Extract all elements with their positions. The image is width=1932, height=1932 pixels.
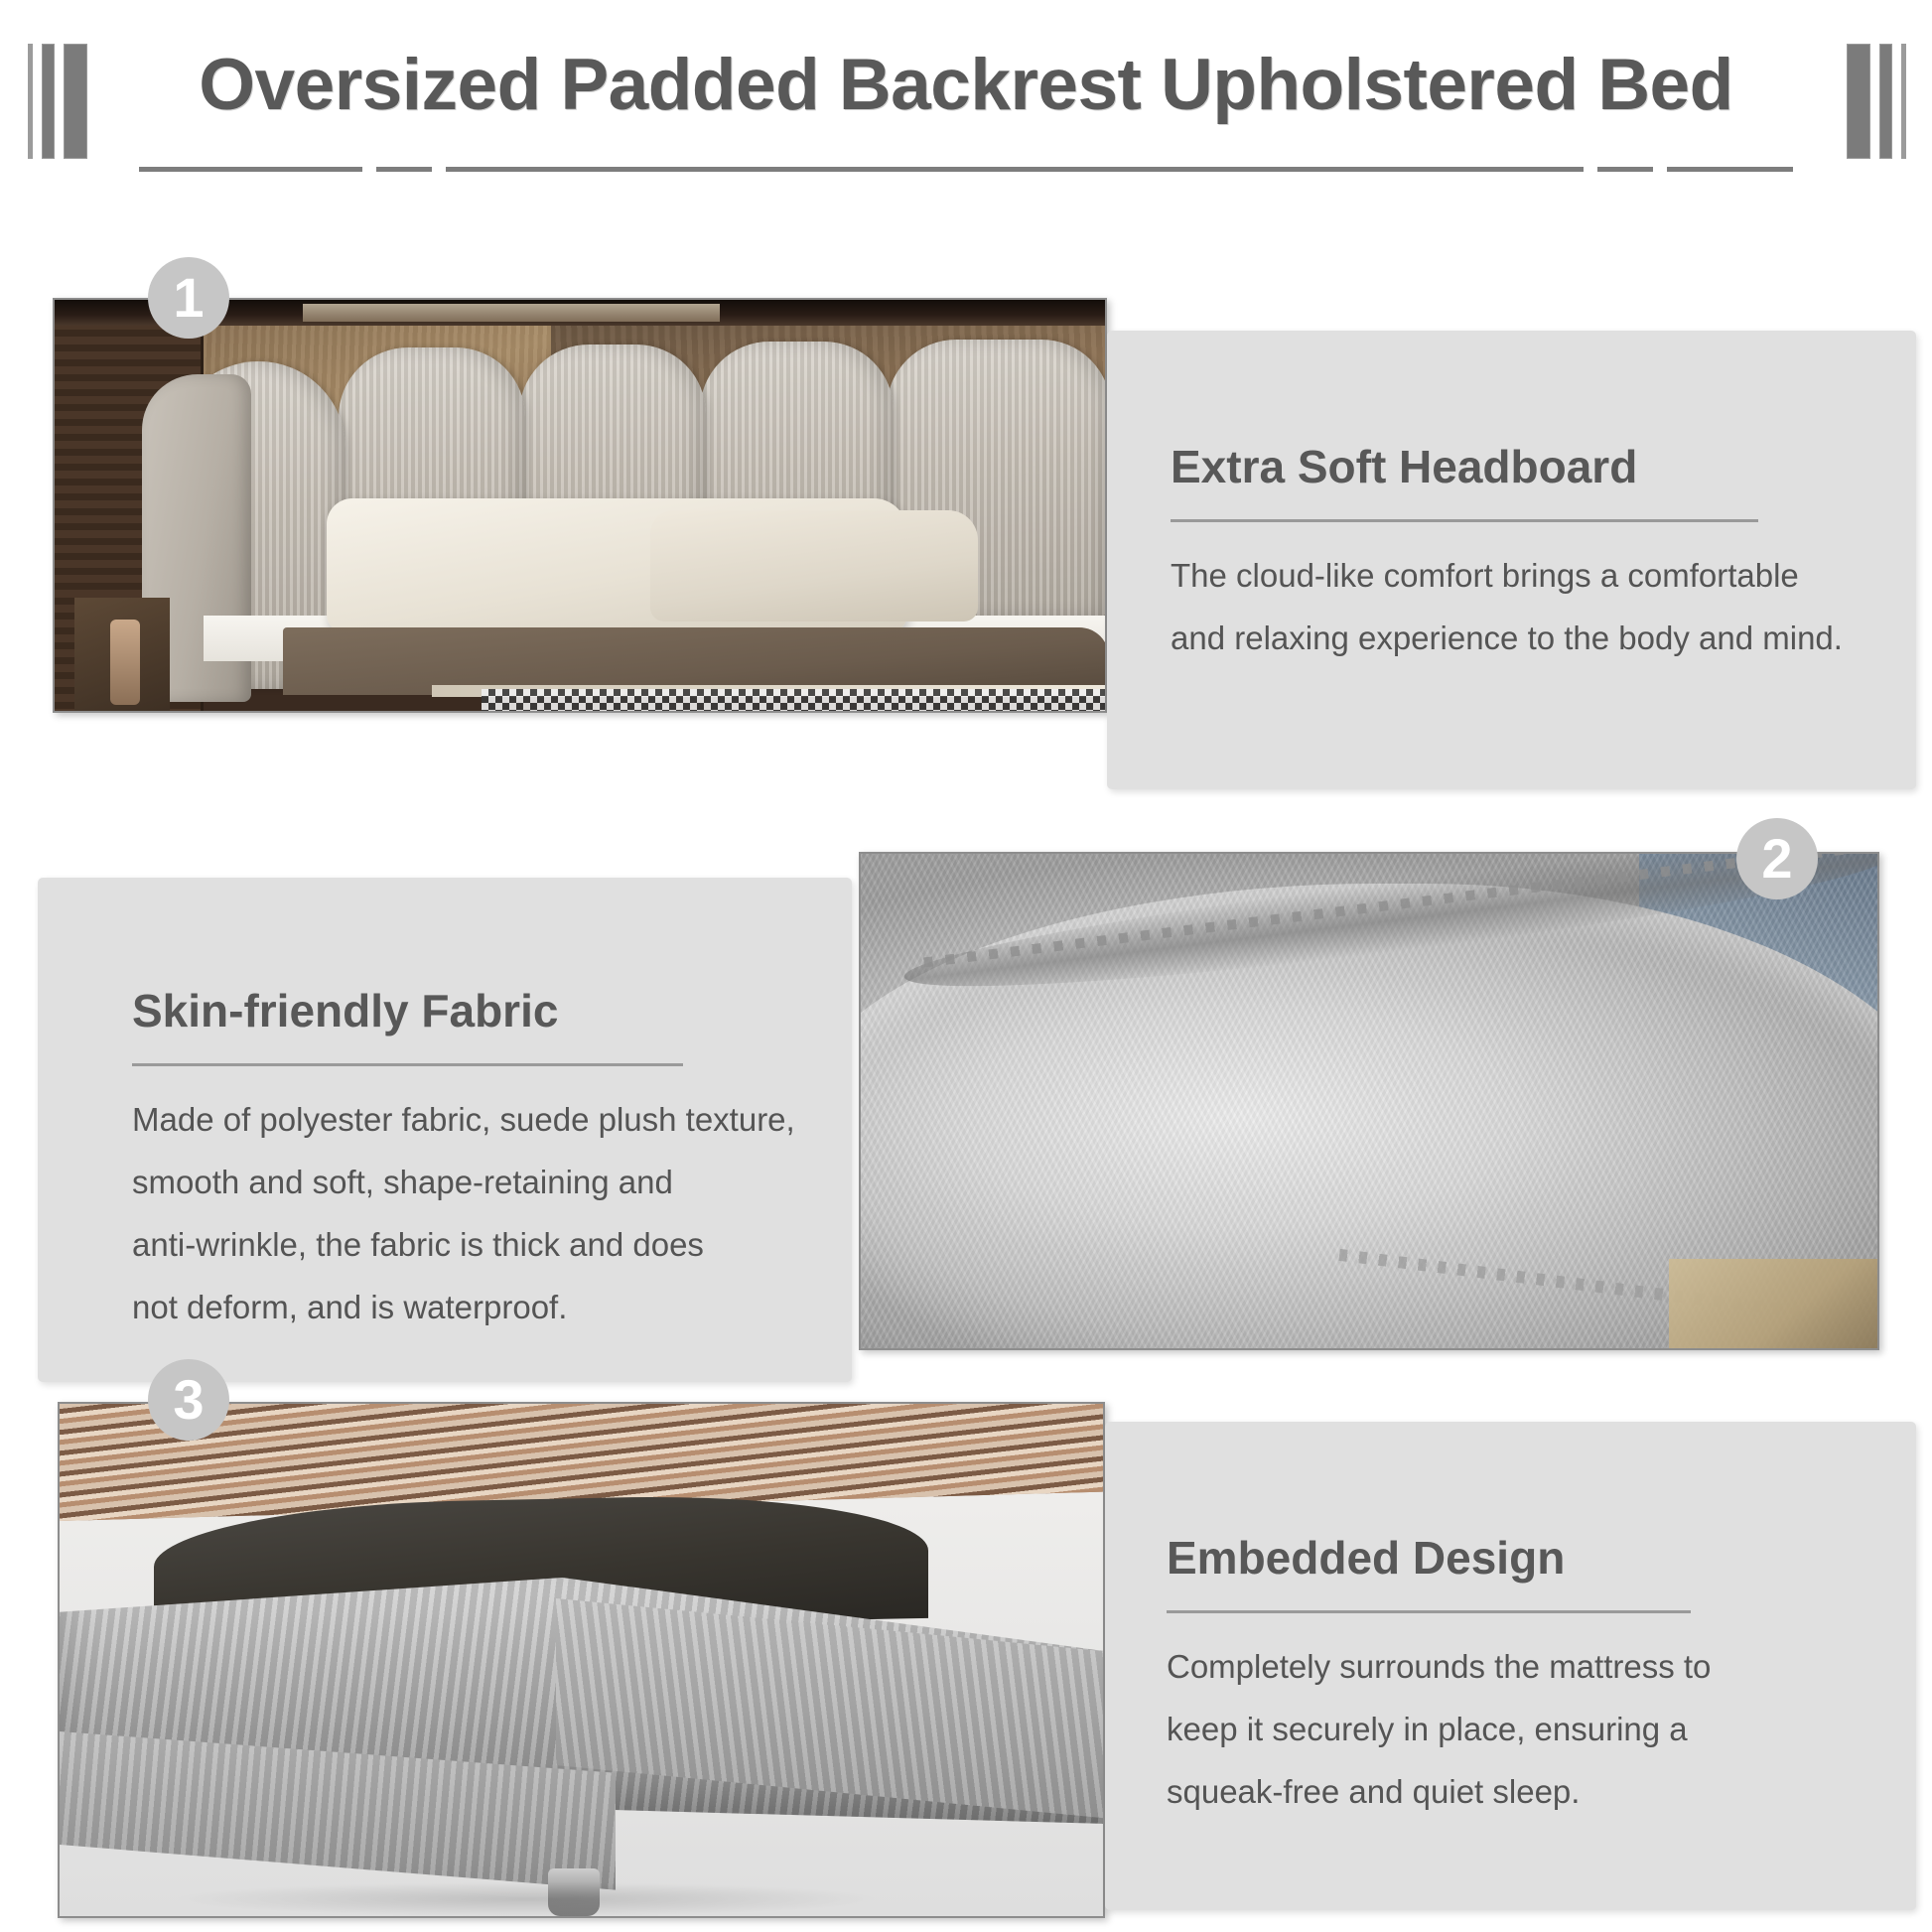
decor-object [110,620,140,705]
floor-shadow [179,1882,874,1916]
wall-light-strip [303,304,720,322]
page-title: Oversized Padded Backrest Upholstered Be… [0,38,1932,133]
title-underline [139,167,1793,172]
infographic-page: Oversized Padded Backrest Upholstered Be… [0,0,1932,1932]
feature-title-rule-1 [1171,519,1758,522]
feature-image-3 [58,1402,1105,1918]
rule-segment [139,167,362,172]
wood-floor-corner [1669,1259,1877,1348]
feature-body-3: Completely surrounds the mattress to kee… [1167,1635,1862,1823]
panel-number-badge-3: 3 [148,1359,229,1441]
feature-title-1: Extra Soft Headboard [1171,438,1865,495]
feature-body-line: not deform, and is waterproof. [132,1276,807,1338]
feature-image-2 [859,852,1879,1350]
feature-image-1 [53,298,1107,713]
decoration-bar-medium [1879,44,1892,159]
houndstooth-throw [482,689,1107,713]
feature-body-line: The cloud-like comfort brings a comforta… [1171,544,1865,607]
feature-body-line: Made of polyester fabric, suede plush te… [132,1088,807,1151]
rule-gap [1653,167,1667,172]
header-decoration-right [1847,44,1906,159]
feature-card-2: Skin-friendly Fabric Made of polyester f… [38,878,852,1382]
rule-gap [1584,167,1597,172]
decoration-bar-thin [1901,44,1906,159]
feature-title-2: Skin-friendly Fabric [132,982,807,1039]
feature-title-rule-3 [1167,1610,1691,1613]
feature-body-1: The cloud-like comfort brings a comforta… [1171,544,1865,669]
panel-number-badge-2: 2 [1736,818,1818,899]
feature-body-line: squeak-free and quiet sleep. [1167,1760,1862,1823]
feature-body-line: anti-wrinkle, the fabric is thick and do… [132,1213,807,1276]
feature-body-2: Made of polyester fabric, suede plush te… [132,1088,807,1338]
rule-segment [446,167,1584,172]
rule-segment [1597,167,1653,172]
decoration-bar-thick [1847,44,1870,159]
rule-segment [1667,167,1793,172]
feature-body-line: keep it securely in place, ensuring a [1167,1698,1862,1760]
feature-title-3: Embedded Design [1167,1529,1862,1587]
header: Oversized Padded Backrest Upholstered Be… [0,0,1932,199]
feature-title-rule-2 [132,1063,683,1066]
bed-pillow [650,510,978,621]
panel-number-badge-1: 1 [148,257,229,339]
feature-body-line: Completely surrounds the mattress to [1167,1635,1862,1698]
rule-gap [362,167,376,172]
rule-gap [432,167,446,172]
feature-body-line: and relaxing experience to the body and … [1171,607,1865,669]
feature-card-1: Extra Soft Headboard The cloud-like comf… [1107,331,1916,789]
rule-segment [376,167,432,172]
feature-body-line: smooth and soft, shape-retaining and [132,1151,807,1213]
feature-card-3: Embedded Design Completely surrounds the… [1105,1422,1916,1910]
